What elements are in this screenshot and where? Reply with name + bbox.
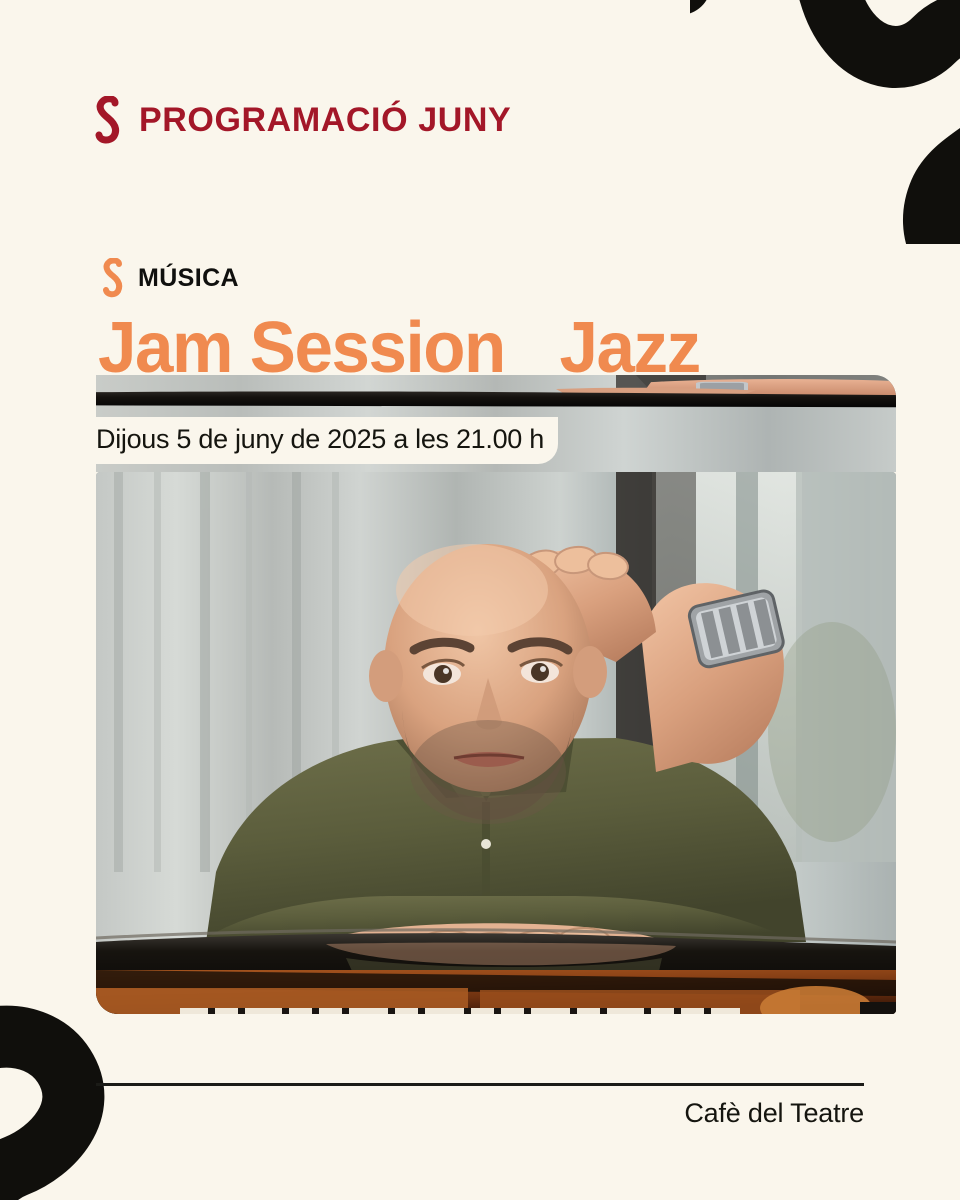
brand-s-glyph-icon xyxy=(93,96,123,144)
event-date-block: Dijous 5 de juny de 2025 a les 21.00 h xyxy=(78,417,558,464)
event-photo xyxy=(96,472,896,1014)
poster-header: PROGRAMACIÓ JUNY xyxy=(93,96,511,144)
event-date: Dijous 5 de juny de 2025 a les 21.00 h xyxy=(96,425,544,455)
footer-divider xyxy=(96,1083,864,1086)
event-title: Jam Session _Jazz xyxy=(98,312,700,384)
black-s-ribbon-icon xyxy=(690,0,960,244)
page-title: PROGRAMACIÓ JUNY xyxy=(139,103,511,137)
black-s-ribbon-icon xyxy=(0,984,174,1200)
poster-canvas: PROGRAMACIÓ JUNY MÚSICA Jam Session _Jaz… xyxy=(0,0,960,1200)
category-label: MÚSICA xyxy=(138,266,239,291)
category-badge: MÚSICA xyxy=(101,258,239,298)
venue-name: Cafè del Teatre xyxy=(684,1097,864,1129)
brand-s-glyph-icon xyxy=(101,258,125,298)
